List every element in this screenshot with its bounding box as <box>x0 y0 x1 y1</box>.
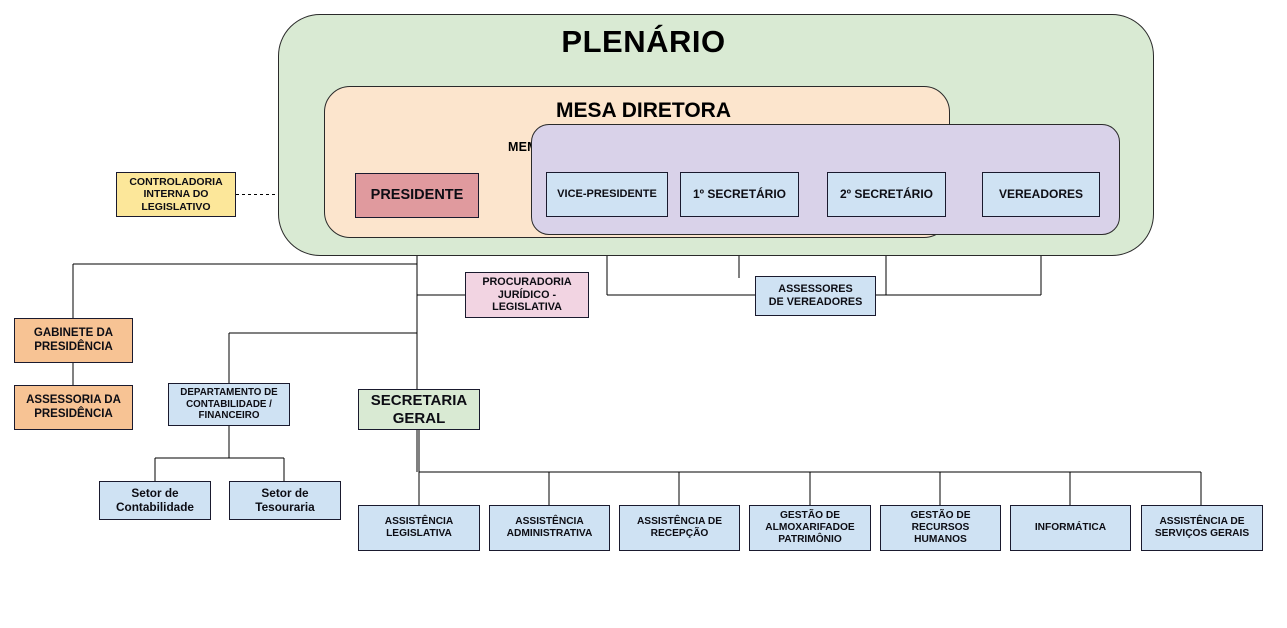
gabinete-line-1: GABINETE DA <box>34 327 113 341</box>
controladoria-line-3: LEGISLATIVO <box>129 201 222 213</box>
secretaria-geral-line-2: GERAL <box>371 410 467 428</box>
node-vice-presidente[interactable]: VICE-PRESIDENTE <box>546 172 668 217</box>
node-secretaria-geral[interactable]: SECRETARIA GERAL <box>358 389 480 430</box>
gestao-almoxarifado-line-3: PATRIMÔNIO <box>765 534 854 546</box>
assessoria-line-1: ASSESSORIA DA <box>26 394 121 408</box>
primeiro-secretario-label: 1º SECRETÁRIO <box>693 187 786 201</box>
presidente-label: PRESIDENTE <box>371 187 464 204</box>
node-assessores-de-vereadores[interactable]: ASSESSORES DE VEREADORES <box>755 276 876 316</box>
setor-contabilidade-line-2: Contabilidade <box>116 501 194 515</box>
procuradoria-line-3: LEGISLATIVA <box>482 301 571 314</box>
assistencia-recepcao-line-1: ASSISTÊNCIA DE <box>637 516 722 528</box>
vereadores-label: VEREADORES <box>999 187 1083 201</box>
node-assessoria-da-presidencia[interactable]: ASSESSORIA DA PRESIDÊNCIA <box>14 385 133 430</box>
node-procuradoria-juridico-legislativa[interactable]: PROCURADORIA JURÍDICO - LEGISLATIVA <box>465 272 589 318</box>
node-gestao-almoxarifado-patrimonio[interactable]: GESTÃO DE ALMOXARIFADOE PATRIMÔNIO <box>749 505 871 551</box>
node-informatica[interactable]: INFORMÁTICA <box>1010 505 1131 551</box>
setor-tesouraria-line-1: Setor de <box>255 487 314 501</box>
gestao-rh-line-3: HUMANOS <box>910 534 970 546</box>
segundo-secretario-label: 2º SECRETÁRIO <box>840 187 933 201</box>
node-assistencia-legislativa[interactable]: ASSISTÊNCIA LEGISLATIVA <box>358 505 480 551</box>
departamento-line-2: CONTABILIDADE / <box>180 399 277 411</box>
controladoria-line-2: INTERNA DO <box>129 188 222 200</box>
node-presidente[interactable]: PRESIDENTE <box>355 173 479 218</box>
secretaria-geral-line-1: SECRETARIA <box>371 392 467 410</box>
organizational-chart: PLENÁRIO MESA DIRETORA MEMBROS DE COMISS… <box>0 0 1287 628</box>
gestao-almoxarifado-line-2: ALMOXARIFADOE <box>765 522 854 534</box>
assistencia-legislativa-line-2: LEGISLATIVA <box>385 528 454 540</box>
assistencia-recepcao-line-2: RECEPÇÃO <box>637 528 722 540</box>
plenario-title: PLENÁRIO <box>0 24 1287 60</box>
node-segundo-secretario[interactable]: 2º SECRETÁRIO <box>827 172 946 217</box>
procuradoria-line-2: JURÍDICO - <box>482 289 571 302</box>
node-setor-de-contabilidade[interactable]: Setor de Contabilidade <box>99 481 211 520</box>
node-controladoria-interna[interactable]: CONTROLADORIA INTERNA DO LEGISLATIVO <box>116 172 236 217</box>
vice-presidente-label: VICE-PRESIDENTE <box>557 188 657 201</box>
departamento-line-3: FINANCEIRO <box>180 410 277 422</box>
node-gabinete-da-presidencia[interactable]: GABINETE DA PRESIDÊNCIA <box>14 318 133 363</box>
assessores-line-2: DE VEREADORES <box>769 296 863 309</box>
assessores-line-1: ASSESSORES <box>769 283 863 296</box>
node-vereadores[interactable]: VEREADORES <box>982 172 1100 217</box>
assistencia-legislativa-line-1: ASSISTÊNCIA <box>385 516 454 528</box>
gabinete-line-2: PRESIDÊNCIA <box>34 341 113 355</box>
node-assistencia-administrativa[interactable]: ASSISTÊNCIA ADMINISTRATIVA <box>489 505 610 551</box>
gestao-rh-line-1: GESTÃO DE <box>910 510 970 522</box>
node-assistencia-servicos-gerais[interactable]: ASSISTÊNCIA DE SERVIÇOS GERAIS <box>1141 505 1263 551</box>
assistencia-administrativa-line-1: ASSISTÊNCIA <box>507 516 593 528</box>
gestao-rh-line-2: RECURSOS <box>910 522 970 534</box>
assessoria-line-2: PRESIDÊNCIA <box>26 408 121 422</box>
departamento-line-1: DEPARTAMENTO DE <box>180 387 277 399</box>
node-setor-de-tesouraria[interactable]: Setor de Tesouraria <box>229 481 341 520</box>
node-assistencia-recepcao[interactable]: ASSISTÊNCIA DE RECEPÇÃO <box>619 505 740 551</box>
setor-tesouraria-line-2: Tesouraria <box>255 501 314 515</box>
mesa-diretora-title: MESA DIRETORA <box>0 99 1287 123</box>
node-departamento-contabilidade-financeiro[interactable]: DEPARTAMENTO DE CONTABILIDADE / FINANCEI… <box>168 383 290 426</box>
informatica-label: INFORMÁTICA <box>1035 522 1106 534</box>
gestao-almoxarifado-line-1: GESTÃO DE <box>765 510 854 522</box>
assistencia-servicos-line-1: ASSISTÊNCIA DE <box>1155 516 1249 528</box>
node-primeiro-secretario[interactable]: 1º SECRETÁRIO <box>680 172 799 217</box>
procuradoria-line-1: PROCURADORIA <box>482 276 571 289</box>
assistencia-administrativa-line-2: ADMINISTRATIVA <box>507 528 593 540</box>
setor-contabilidade-line-1: Setor de <box>116 487 194 501</box>
node-gestao-recursos-humanos[interactable]: GESTÃO DE RECURSOS HUMANOS <box>880 505 1001 551</box>
assistencia-servicos-line-2: SERVIÇOS GERAIS <box>1155 528 1249 540</box>
controladoria-line-1: CONTROLADORIA <box>129 176 222 188</box>
